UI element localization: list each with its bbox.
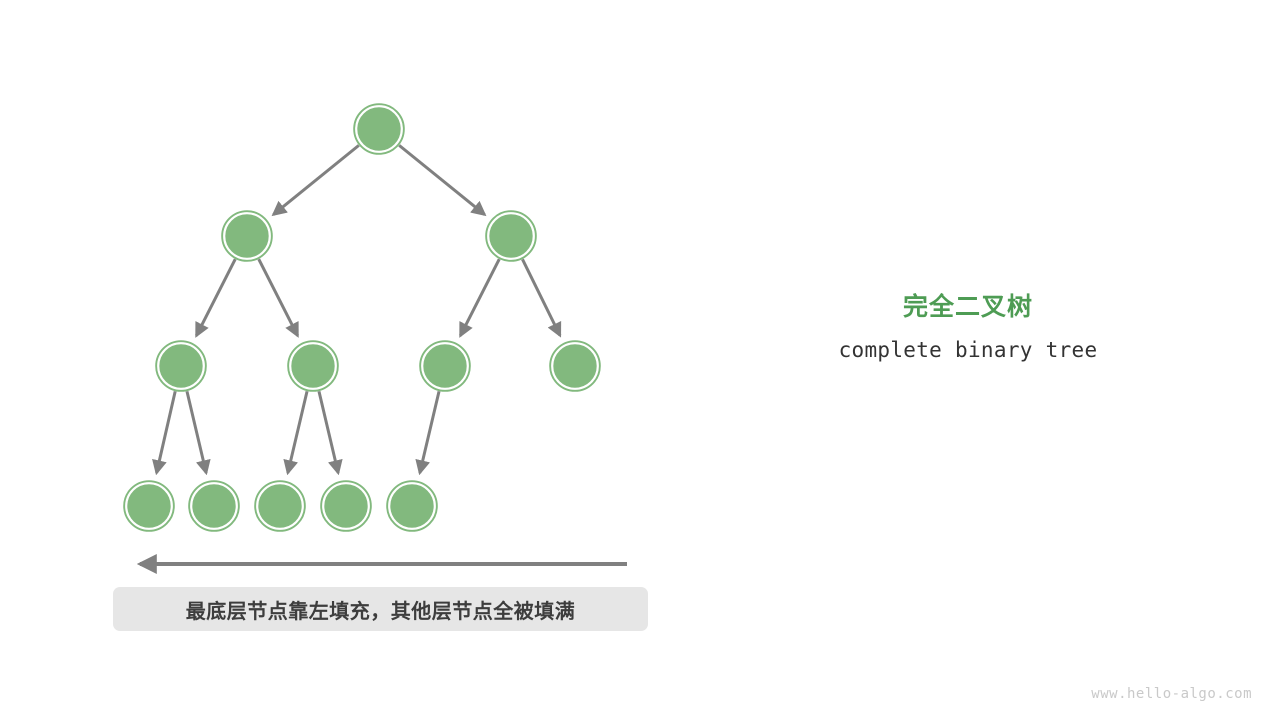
tree-node-core bbox=[259, 485, 301, 527]
tree-node-core bbox=[160, 345, 202, 387]
caption-box: 最底层节点靠左填充，其他层节点全被填满 bbox=[113, 587, 648, 631]
tree-node bbox=[321, 481, 371, 531]
tree-edge bbox=[196, 259, 235, 335]
tree-node bbox=[189, 481, 239, 531]
tree-edge-layer bbox=[157, 145, 560, 473]
tree-node-core bbox=[424, 345, 466, 387]
tree-node-core bbox=[128, 485, 170, 527]
watermark: www.hello-algo.com bbox=[1091, 686, 1252, 702]
tree-edge bbox=[273, 145, 358, 214]
tree-node bbox=[124, 481, 174, 531]
tree-edge bbox=[259, 259, 298, 335]
tree-node bbox=[420, 341, 470, 391]
tree-edge bbox=[288, 391, 307, 473]
tree-edge bbox=[420, 391, 439, 473]
tree-node bbox=[156, 341, 206, 391]
tree-edge bbox=[460, 259, 499, 335]
tree-edge bbox=[187, 391, 206, 473]
tree-node bbox=[288, 341, 338, 391]
tree-edge bbox=[522, 259, 559, 335]
tree-node bbox=[550, 341, 600, 391]
tree-node-core bbox=[358, 108, 400, 150]
tree-node bbox=[387, 481, 437, 531]
tree-node-core bbox=[226, 215, 268, 257]
tree-node-core bbox=[193, 485, 235, 527]
tree-node-core bbox=[391, 485, 433, 527]
tree-edge bbox=[399, 145, 484, 214]
tree-node-core bbox=[325, 485, 367, 527]
caption-text: 最底层节点靠左填充，其他层节点全被填满 bbox=[186, 595, 576, 624]
tree-node bbox=[486, 211, 536, 261]
tree-node bbox=[255, 481, 305, 531]
tree-edge bbox=[319, 391, 338, 473]
tree-node bbox=[222, 211, 272, 261]
tree-node bbox=[354, 104, 404, 154]
tree-node-core bbox=[490, 215, 532, 257]
tree-node-core bbox=[554, 345, 596, 387]
legend-title: 完全二叉树 bbox=[780, 292, 1156, 322]
legend-subtitle: complete binary tree bbox=[780, 338, 1156, 362]
tree-node-layer bbox=[124, 104, 600, 531]
tree-node-core bbox=[292, 345, 334, 387]
legend-block: 完全二叉树 complete binary tree bbox=[780, 292, 1156, 362]
tree-edge bbox=[157, 391, 176, 473]
